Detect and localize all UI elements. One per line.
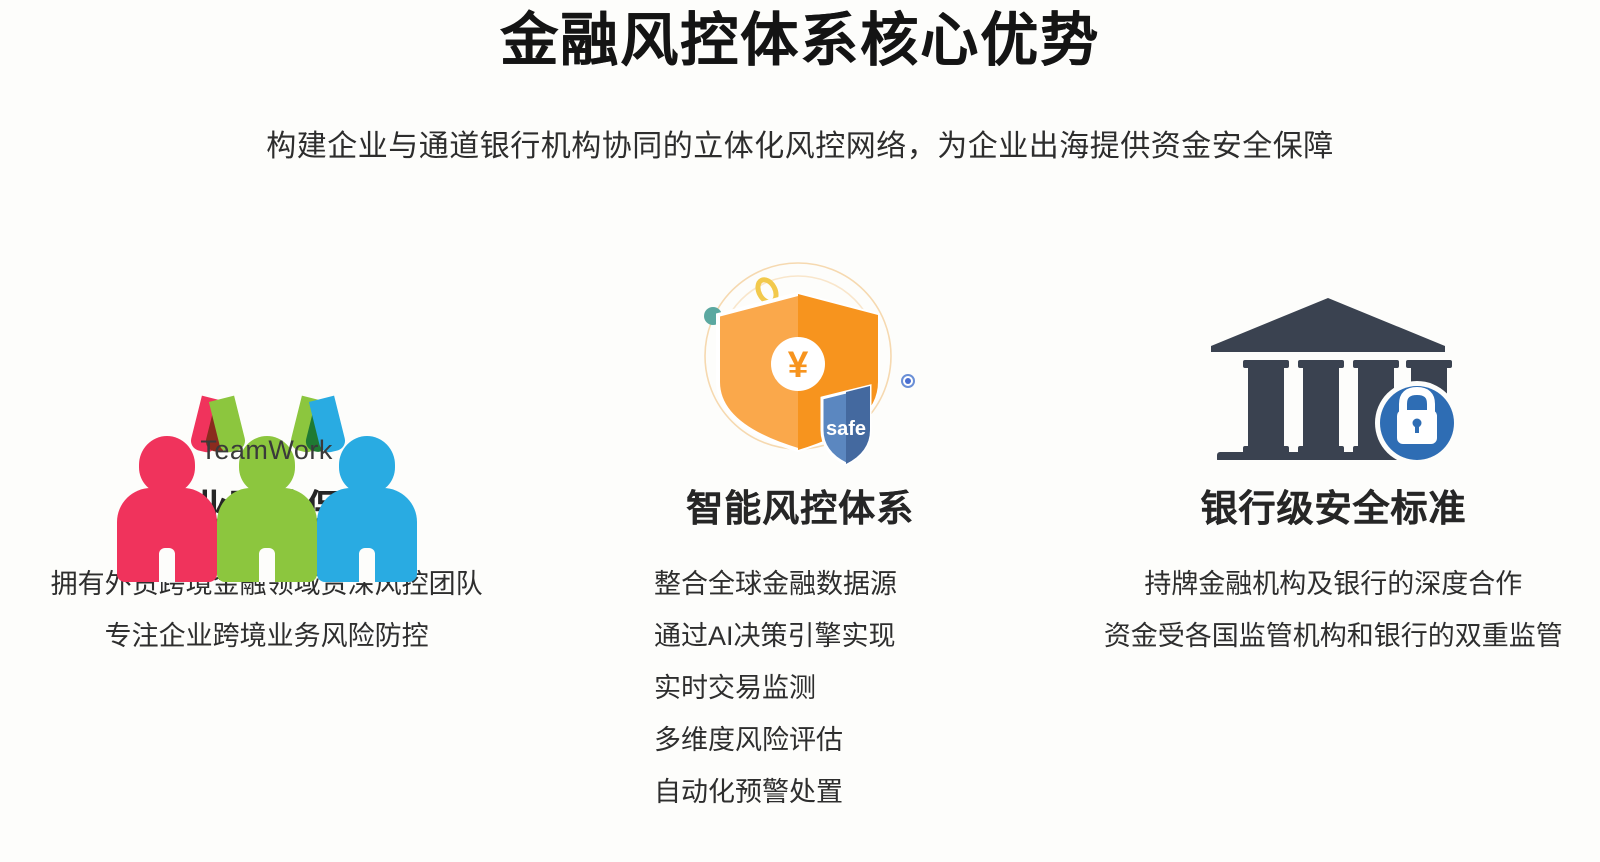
body-line: 通过AI决策引擎实现 xyxy=(654,610,954,662)
feature-column-risk: ¥ safe 智能风控体系 整合全球金融数据源 通过AI决策引擎实现 实时交易监… xyxy=(533,250,1066,818)
body-line: 资金受各国监管机构和银行的双重监管 xyxy=(1104,610,1563,662)
body-line: 专注企业跨境业务风险防控 xyxy=(51,610,483,662)
column-body-risk: 整合全球金融数据源 通过AI决策引擎实现 实时交易监测 多维度风险评估 自动化预… xyxy=(654,558,954,818)
safe-label: safe xyxy=(826,418,866,440)
feature-column-team: TeamWork 专业团队保障 拥有外贸跨境金融领域资深风控团队 专注企业跨境业… xyxy=(0,250,533,662)
teamwork-icon-box: TeamWork xyxy=(0,250,533,470)
yen-symbol: ¥ xyxy=(788,344,809,385)
column-title-risk: 智能风控体系 xyxy=(686,478,914,532)
person-leg-gap xyxy=(359,548,375,582)
feature-columns: TeamWork 专业团队保障 拥有外贸跨境金融领域资深风控团队 专注企业跨境业… xyxy=(0,250,1600,818)
body-line: 自动化预警处置 xyxy=(654,766,954,818)
teamwork-icon: TeamWork xyxy=(117,260,417,460)
bank-lock-icon xyxy=(1203,260,1463,460)
person-body-icon xyxy=(217,488,317,582)
page-subtitle: 构建企业与通道银行机构协同的立体化风控网络，为企业出海提供资金安全保障 xyxy=(0,75,1600,165)
shield-yen-icon: ¥ safe xyxy=(670,253,930,468)
page-title: 金融风控体系核心优势 xyxy=(0,0,1600,75)
bank-roof-icon xyxy=(1211,298,1445,352)
body-line: 整合全球金融数据源 xyxy=(654,558,954,610)
person-leg-gap xyxy=(159,548,175,582)
column-title-bank: 银行级安全标准 xyxy=(1200,478,1466,532)
bank-icon-box xyxy=(1067,250,1600,470)
person-body-icon xyxy=(117,488,217,582)
body-line: 多维度风险评估 xyxy=(654,714,954,766)
teamwork-label: TeamWork xyxy=(117,435,417,466)
column-body-bank: 持牌金融机构及银行的深度合作 资金受各国监管机构和银行的双重监管 xyxy=(1104,558,1563,662)
body-line: 持牌金融机构及银行的深度合作 xyxy=(1104,558,1563,610)
person-leg-gap xyxy=(259,548,275,582)
body-line: 实时交易监测 xyxy=(654,662,954,714)
accent-dot-blue xyxy=(905,378,911,384)
person-body-icon xyxy=(317,488,417,582)
shield-icon-box: ¥ safe xyxy=(533,250,1066,470)
lock-keyhole-stem xyxy=(1415,423,1419,433)
bank-base-icon xyxy=(1217,452,1413,460)
feature-column-bank: 银行级安全标准 持牌金融机构及银行的深度合作 资金受各国监管机构和银行的双重监管 xyxy=(1067,250,1600,662)
